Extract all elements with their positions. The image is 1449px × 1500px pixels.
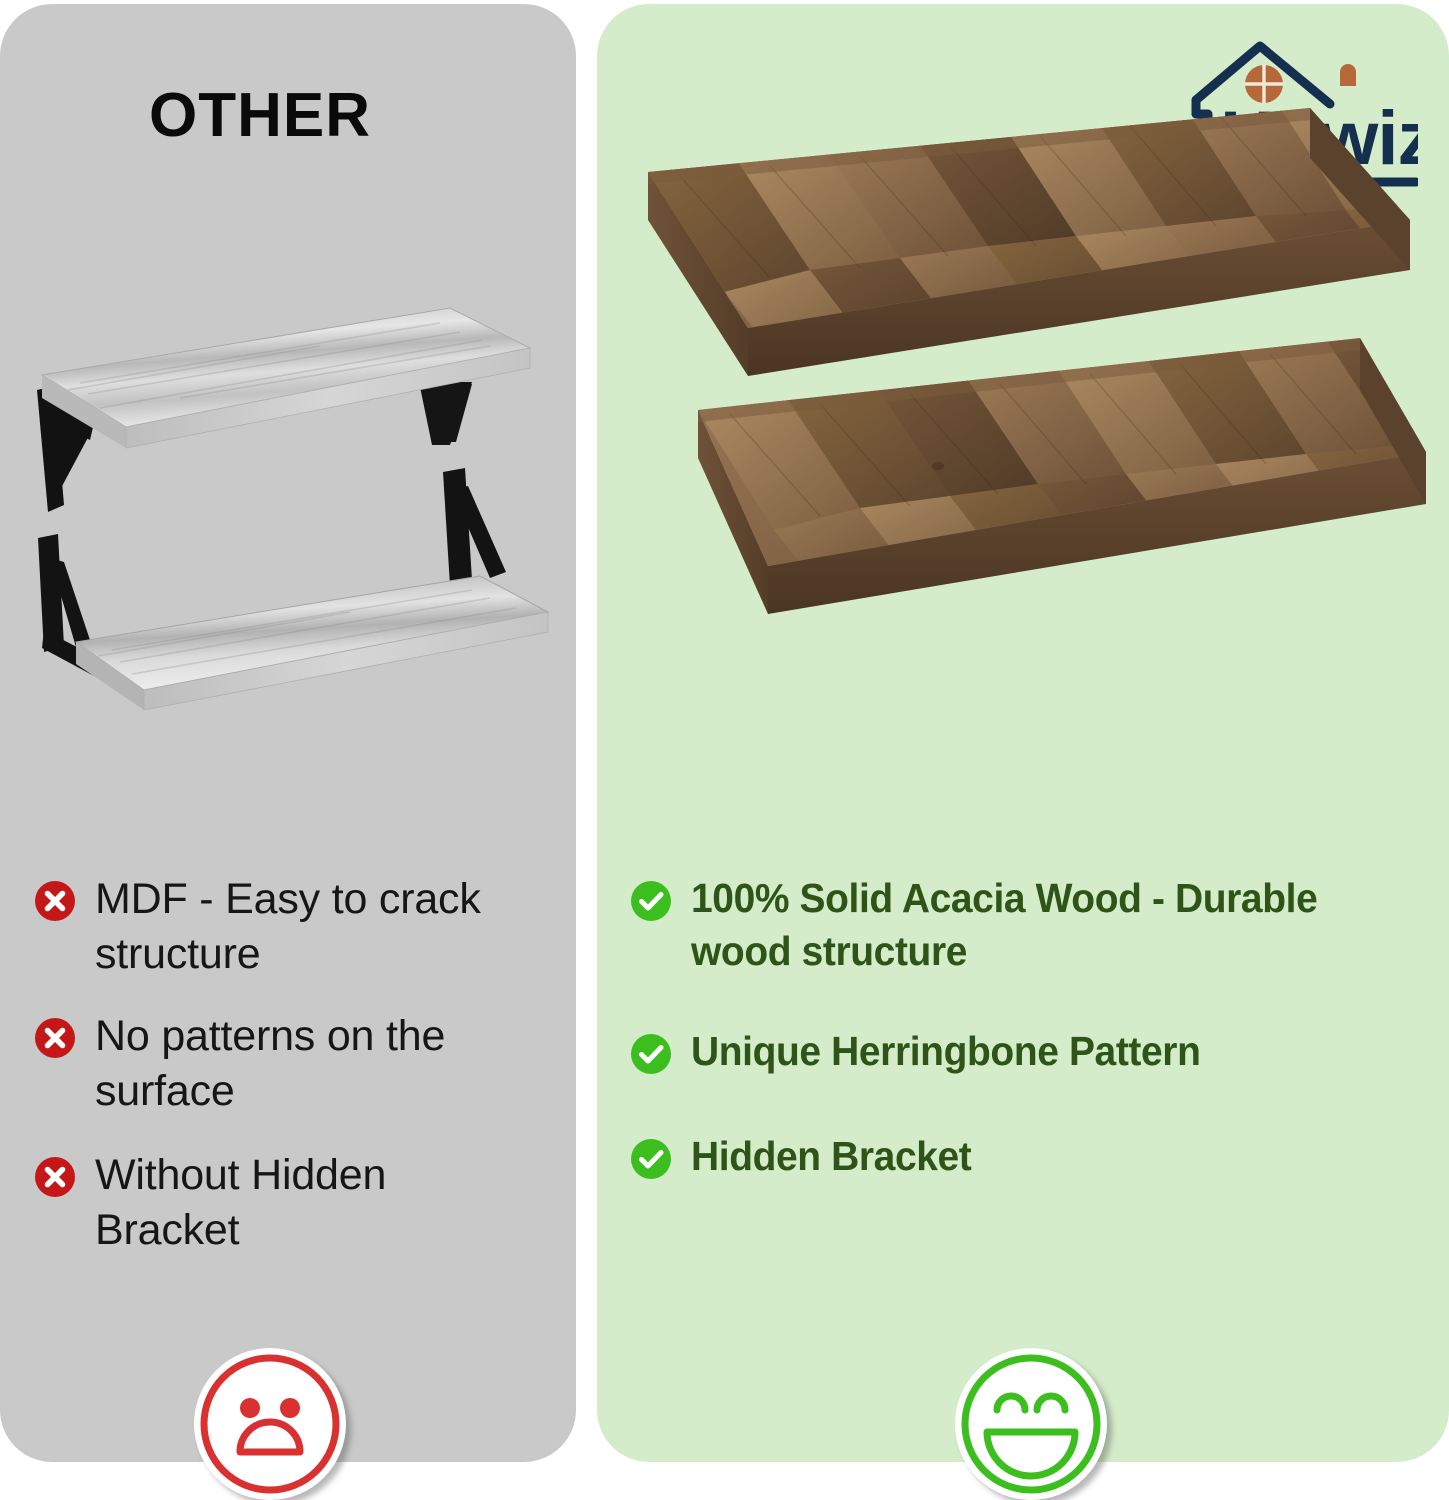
howizz-bullet-list: 100% Solid Acacia Wood - Durable wood st… (630, 872, 1390, 1213)
check-icon (630, 880, 672, 922)
list-item: MDF - Easy to crack structure (34, 872, 534, 981)
bracket-lower-right (443, 468, 506, 586)
list-item-label: 100% Solid Acacia Wood - Durable wood st… (691, 872, 1355, 979)
list-item-label: Unique Herringbone Pattern (691, 1025, 1201, 1078)
acacia-shelf-upper (648, 96, 1430, 376)
list-item-label: No patterns on the surface (95, 1009, 534, 1118)
cross-icon (34, 1156, 76, 1198)
acacia-shelves-image (620, 80, 1430, 800)
list-item: Without Hidden Bracket (34, 1148, 534, 1257)
list-item-label: Without Hidden Bracket (95, 1148, 534, 1257)
check-icon (630, 1138, 672, 1180)
other-bullet-list: MDF - Easy to crack structure No pattern… (34, 872, 534, 1288)
list-item: 100% Solid Acacia Wood - Durable wood st… (630, 872, 1390, 979)
acacia-shelf-lower (698, 334, 1430, 614)
list-item-label: MDF - Easy to crack structure (95, 872, 534, 981)
other-panel-title: OTHER (0, 80, 520, 151)
list-item: No patterns on the surface (34, 1009, 534, 1118)
bracket-upper-right (419, 382, 472, 445)
cross-icon (34, 880, 76, 922)
sad-face-icon (194, 1348, 346, 1500)
happy-face-icon (955, 1348, 1107, 1500)
list-item: Hidden Bracket (630, 1130, 1390, 1183)
check-icon (630, 1033, 672, 1075)
comparison-infographic: OTHER (0, 0, 1449, 1500)
list-item-label: Hidden Bracket (691, 1130, 971, 1183)
mdf-shelves-image (20, 290, 550, 710)
cross-icon (34, 1017, 76, 1059)
list-item: Unique Herringbone Pattern (630, 1025, 1390, 1078)
